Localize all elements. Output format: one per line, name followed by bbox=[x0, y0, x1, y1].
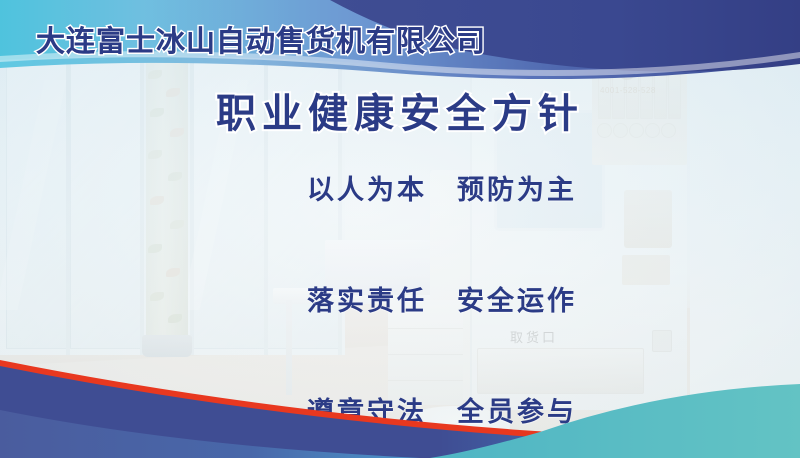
company-name: 大连富士冰山自动售货机有限公司 bbox=[36, 18, 486, 60]
poster-canvas: 取货口 4001-528-528 bbox=[0, 0, 800, 458]
slogan-right: 预防为主 bbox=[457, 175, 577, 205]
bottom-wave bbox=[0, 348, 800, 458]
page-title: 职业健康安全方针 bbox=[0, 92, 800, 136]
slogan-row: 以人为本预防为主 bbox=[0, 150, 800, 231]
slogan-row: 落实责任安全运作 bbox=[0, 261, 800, 342]
footer-shape bbox=[0, 348, 800, 458]
slogan-right: 安全运作 bbox=[457, 286, 577, 316]
slogan-left: 以人为本 bbox=[307, 175, 427, 205]
slogan-left: 落实责任 bbox=[307, 286, 427, 316]
top-banner: 大连富士冰山自动售货机有限公司 大连富士冰山自动售货机有限公司 bbox=[0, 0, 800, 90]
